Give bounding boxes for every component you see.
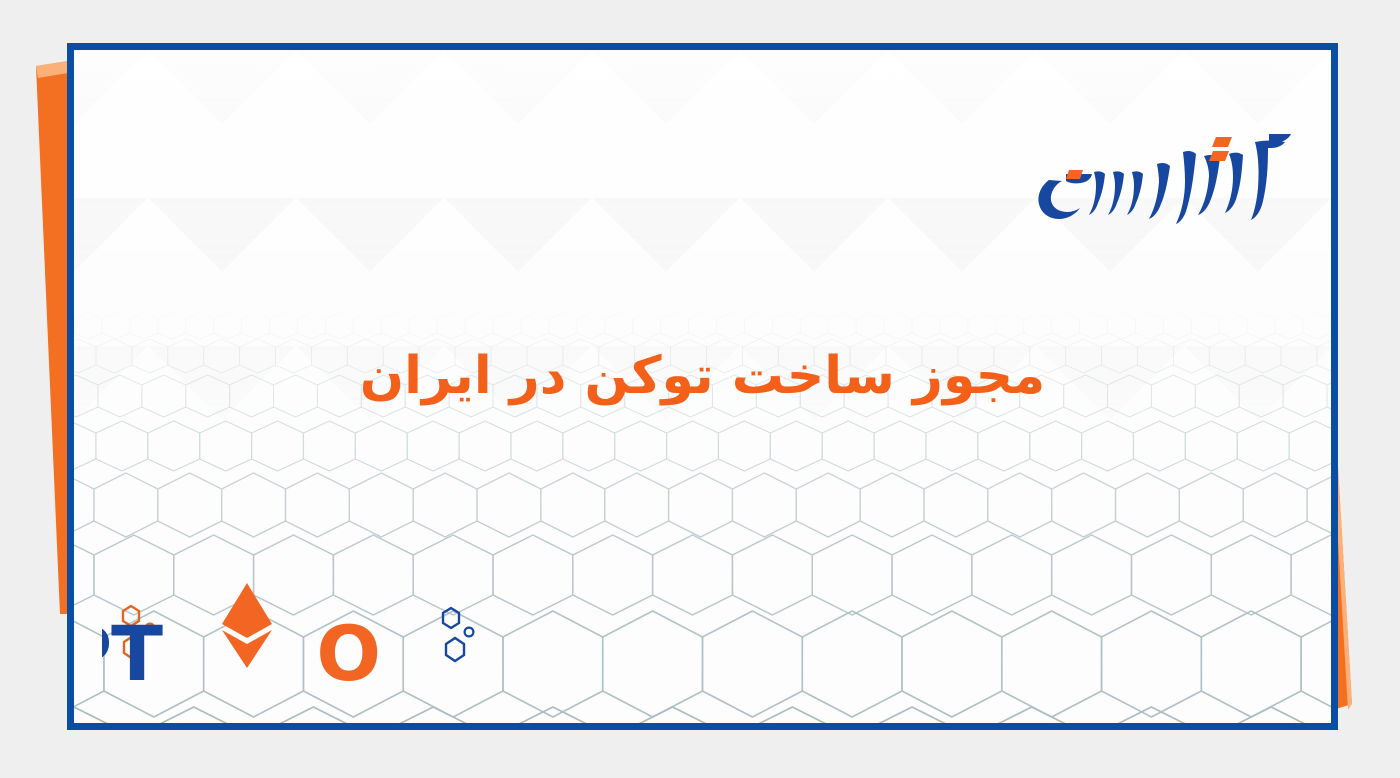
svg-text:O: O (316, 609, 380, 695)
banner-canvas: مجوز ساخت توکن در ایران CRYPT O (0, 0, 1400, 778)
crypto-logo: CRYPT O (102, 580, 492, 695)
brand-logo (1033, 120, 1293, 225)
banner-card: مجوز ساخت توکن در ایران CRYPT O (67, 43, 1338, 730)
ethereum-diamond-icon (222, 583, 272, 668)
blue-hexagon-cluster (443, 608, 464, 661)
page-title: مجوز ساخت توکن در ایران (74, 346, 1331, 407)
svg-text:CRYPT: CRYPT (102, 609, 163, 695)
